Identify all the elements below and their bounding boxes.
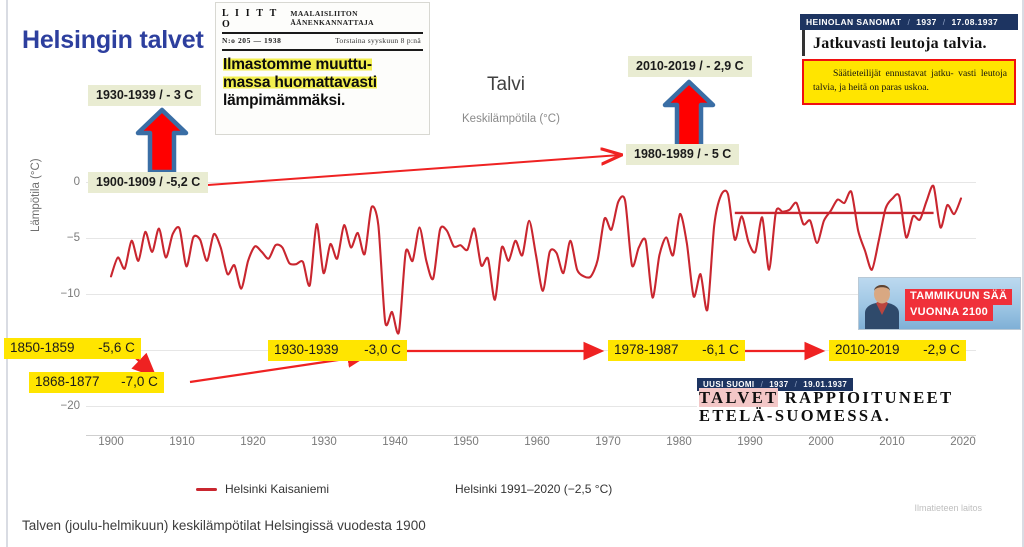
uusi-suomi-headline-rest: RAPPIOITUNEET (785, 388, 954, 407)
liitto-headline: Ilmastomme muuttu- massa huomattavasti l… (216, 54, 429, 110)
highlight-1868-1877[interactable]: 1868-1877 -7,0 C (29, 372, 164, 393)
x-tick-1990: 1990 (737, 436, 763, 448)
legend-swatch-kaisaniemi (196, 488, 217, 491)
liitto-headline-line-1: Ilmastomme muuttu- (223, 56, 372, 73)
highlight-1868-1877-value: -7,0 C (121, 374, 158, 389)
highlight-2010-2019[interactable]: 2010-2019 -2,9 C (829, 340, 966, 361)
slide-caption: Talven (joulu-helmikuun) keskilämpötilat… (22, 518, 426, 533)
legend-label-kaisaniemi: Helsinki Kaisaniemi (225, 482, 329, 496)
highlight-1930-1939[interactable]: 1930-1939 -3,0 C (268, 340, 407, 361)
y-tick--20: −20 (48, 400, 80, 412)
x-axis-line (86, 435, 976, 436)
x-tick-2000: 2000 (808, 436, 834, 448)
callout-1930-1939[interactable]: 1930-1939 / - 3 C (88, 85, 201, 106)
chart-legend: Helsinki Kaisaniemi (196, 482, 329, 496)
liitto-headline-line-3: lämpimämmäksi. (223, 92, 345, 109)
highlight-1930-1939-value: -3,0 C (364, 342, 401, 357)
highlight-1930-1939-period: 1930-1939 (274, 342, 339, 357)
newspaper-clipping-uusi-suomi: UUSI SUOMI / 1937 / 19.01.1937 TALVET RA… (697, 378, 1019, 430)
source-attribution: Ilmatieteen laitos (914, 503, 982, 513)
highlight-1978-1987[interactable]: 1978-1987 -6,1 C (608, 340, 745, 361)
callout-1980-1989[interactable]: 1980-1989 / - 5 C (626, 144, 739, 165)
x-tick-2020: 2020 (950, 436, 976, 448)
x-tick-1970: 1970 (595, 436, 621, 448)
liitto-masthead-row: L I I T T O MAALAISLIITON ÄÄNENKANNATTAJ… (216, 3, 429, 31)
highlight-1850-1859-value: -5,6 C (98, 340, 135, 355)
uusi-suomi-headline: TALVET RAPPIOITUNEET ETELÄ-SUOMESSA. (699, 389, 1017, 426)
highlight-2010-2019-value: -2,9 C (923, 342, 960, 357)
highlight-1978-1987-value: -6,1 C (702, 342, 739, 357)
y-tick-0: 0 (56, 176, 80, 188)
highlight-1978-1987-period: 1978-1987 (614, 342, 679, 357)
heinolan-sanomat-year: 1937 (916, 17, 937, 27)
x-tick-1960: 1960 (524, 436, 550, 448)
liitto-issue-number: N:o 205 — 1938 (222, 36, 281, 45)
x-tick-1910: 1910 (169, 436, 195, 448)
x-tick-1920: 1920 (240, 436, 266, 448)
liitto-tagline: MAALAISLIITON ÄÄNENKANNATTAJA (290, 9, 423, 27)
heinolan-sanomat-paper: HEINOLAN SANOMAT (806, 17, 902, 27)
up-arrow-icon-left (133, 106, 193, 178)
heinolan-sanomat-body-line-3: paras uskoa. (881, 82, 928, 93)
heinolan-sanomat-body: Säätieteilijät ennustavat jatku- vasti l… (802, 59, 1016, 105)
newspaper-clipping-liitto: L I I T T O MAALAISLIITON ÄÄNENKANNATTAJ… (215, 2, 430, 135)
callout-2010-2019[interactable]: 2010-2019 / - 2,9 C (628, 56, 752, 77)
heinolan-sanomat-sep-1: / (908, 17, 911, 27)
highlight-1868-1877-period: 1868-1877 (35, 374, 100, 389)
heinolan-sanomat-body-line-1: Säätieteilijät ennustavat jatku- (813, 68, 954, 79)
x-tick-1930: 1930 (311, 436, 337, 448)
highlight-1850-1859[interactable]: 1850-1859 -5,6 C (4, 338, 141, 359)
page-title: Helsingin talvet (22, 26, 204, 55)
series-line-helsinki-kaisaniemi (111, 186, 961, 334)
x-tick-1900: 1900 (98, 436, 124, 448)
x-tick-1950: 1950 (453, 436, 479, 448)
slide-root: Helsingin talvet Talvi Keskilämpötila (°… (0, 0, 1024, 547)
newspaper-clipping-heinolan-sanomat: HEINOLAN SANOMAT / 1937 / 17.08.1937 Jat… (800, 14, 1018, 134)
heinolan-sanomat-headline: Jatkuvasti leutoja talvia. (802, 30, 1018, 56)
chart-subtitle: Keskilämpötila (°C) (462, 113, 560, 125)
liitto-masthead: L I I T T O (222, 8, 283, 30)
presenter-figure-icon (863, 285, 901, 329)
up-arrow-icon-right (660, 78, 720, 153)
x-tick-2010: 2010 (879, 436, 905, 448)
highlight-1850-1859-period: 1850-1859 (10, 340, 75, 355)
uusi-suomi-headline-word-1: TALVET (699, 388, 778, 407)
video-thumbnail-tammikuun-saa[interactable]: TAMMIKUUN SÄÄ VUONNA 2100 (858, 277, 1021, 330)
liitto-issue-row: N:o 205 — 1938 Torstaina syyskuun 8 p:nä (216, 34, 429, 47)
highlight-2010-2019-period: 2010-2019 (835, 342, 900, 357)
uusi-suomi-headline-line-2: ETELÄ-SUOMESSA. (699, 406, 891, 425)
liitto-headline-line-2: massa huomattavasti (223, 74, 377, 91)
y-axis-label: Lämpötila (°C) (30, 158, 42, 232)
y-tick--10: −10 (48, 288, 80, 300)
x-tick-1980: 1980 (666, 436, 692, 448)
callout-1900-1909[interactable]: 1900-1909 / -5,2 C (88, 172, 208, 193)
liitto-divider-2 (222, 49, 423, 51)
legend-reference-note: Helsinki 1991–2020 (−2,5 °C) (455, 482, 612, 496)
thumbnail-title-line-2: VUONNA 2100 (905, 305, 993, 321)
chart-title: Talvi (487, 74, 525, 96)
x-tick-1940: 1940 (382, 436, 408, 448)
heinolan-sanomat-date: 17.08.1937 (952, 17, 999, 27)
y-tick--5: −5 (52, 232, 80, 244)
heinolan-sanomat-header: HEINOLAN SANOMAT / 1937 / 17.08.1937 (800, 14, 1018, 30)
liitto-issue-date: Torstaina syyskuun 8 p:nä (335, 36, 421, 45)
thumbnail-title-line-1: TAMMIKUUN SÄÄ (905, 289, 1012, 305)
heinolan-sanomat-sep-2: / (943, 17, 946, 27)
